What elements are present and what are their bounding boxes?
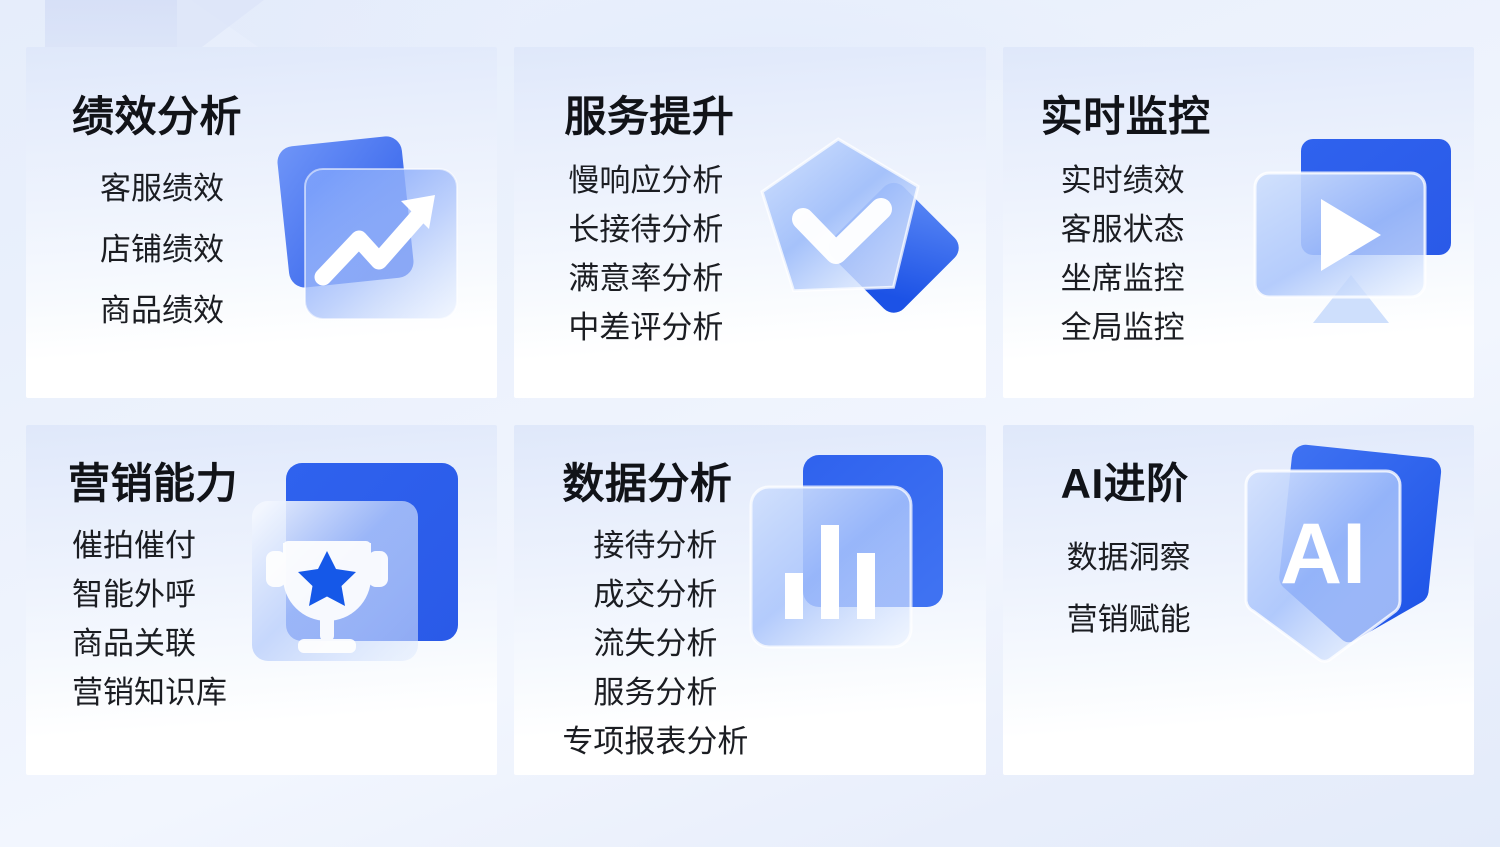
list-item[interactable]: 商品绩效 [100, 280, 242, 341]
list-item[interactable]: 全局监控 [1061, 303, 1211, 352]
feature-card-realtime-monitoring[interactable]: 实时监控 实时绩效 客服状态 坐席监控 全局监控 [1003, 47, 1474, 398]
list-item[interactable]: 服务分析 [562, 668, 748, 717]
card-feature-list: 催拍催付 智能外呼 商品关联 营销知识库 [44, 521, 238, 717]
list-item[interactable]: 店铺绩效 [100, 219, 242, 280]
card-text-block: 营销能力 催拍催付 智能外呼 商品关联 营销知识库 [44, 450, 238, 717]
card-text-block: 实时监控 实时绩效 客服状态 坐席监控 全局监控 [1041, 83, 1211, 352]
feature-card-performance-analysis[interactable]: 绩效分析 客服绩效 店铺绩效 商品绩效 [26, 47, 497, 398]
list-item[interactable]: 中差评分析 [568, 303, 734, 352]
card-feature-list: 实时绩效 客服状态 坐席监控 全局监控 [1041, 156, 1211, 352]
card-title: 营销能力 [44, 450, 238, 511]
monitor-play-icon [1239, 125, 1464, 340]
list-item[interactable]: 坐席监控 [1061, 254, 1211, 303]
trend-up-chart-icon [275, 127, 485, 332]
list-item[interactable]: 营销赋能 [1067, 589, 1191, 651]
card-title: 实时监控 [1041, 83, 1211, 144]
card-title: AI进阶 [1061, 450, 1191, 511]
card-feature-list: 慢响应分析 长接待分析 满意率分析 中差评分析 [564, 156, 734, 352]
list-item[interactable]: 满意率分析 [568, 254, 734, 303]
list-item[interactable]: 慢响应分析 [568, 156, 734, 205]
card-text-block: 数据分析 接待分析 成交分析 流失分析 服务分析 专项报表分析 [562, 450, 748, 766]
card-title: 服务提升 [564, 83, 734, 144]
trophy-star-icon [252, 453, 477, 673]
bar-chart-icon [747, 445, 972, 655]
card-title: 数据分析 [562, 450, 748, 511]
list-item[interactable]: 数据洞察 [1067, 527, 1191, 589]
list-item[interactable]: 流失分析 [562, 619, 748, 668]
card-text-block: 绩效分析 客服绩效 店铺绩效 商品绩效 [72, 83, 242, 341]
list-item[interactable]: 专项报表分析 [562, 717, 748, 766]
feature-card-grid: 绩效分析 客服绩效 店铺绩效 商品绩效 [26, 47, 1474, 775]
list-item[interactable]: 客服状态 [1061, 205, 1211, 254]
list-item[interactable]: 成交分析 [562, 570, 748, 619]
list-item[interactable]: 客服绩效 [100, 158, 242, 219]
feature-card-marketing-capability[interactable]: 营销能力 催拍催付 智能外呼 商品关联 营销知识库 [26, 425, 497, 776]
ai-badge-label: AI [1280, 506, 1366, 602]
list-item[interactable]: 实时绩效 [1061, 156, 1211, 205]
card-text-block: 服务提升 慢响应分析 长接待分析 满意率分析 中差评分析 [564, 83, 734, 352]
card-title: 绩效分析 [72, 83, 242, 144]
shield-check-icon [741, 127, 966, 332]
list-item[interactable]: 催拍催付 [72, 521, 238, 570]
list-item[interactable]: 长接待分析 [568, 205, 734, 254]
feature-card-ai-advanced[interactable]: AI进阶 数据洞察 营销赋能 [1003, 425, 1474, 776]
card-text-block: AI进阶 数据洞察 营销赋能 [1061, 450, 1191, 651]
list-item[interactable]: 智能外呼 [72, 570, 238, 619]
list-item[interactable]: 营销知识库 [72, 668, 238, 717]
card-feature-list: 接待分析 成交分析 流失分析 服务分析 专项报表分析 [562, 521, 748, 766]
card-feature-list: 客服绩效 店铺绩效 商品绩效 [72, 158, 242, 341]
list-item[interactable]: 商品关联 [72, 619, 238, 668]
ai-badge-icon: AI [1240, 435, 1450, 670]
list-item[interactable]: 接待分析 [562, 521, 748, 570]
card-feature-list: 数据洞察 营销赋能 [1061, 527, 1191, 651]
feature-card-service-improvement[interactable]: 服务提升 慢响应分析 长接待分析 满意率分析 中差评分析 [514, 47, 985, 398]
feature-card-data-analysis[interactable]: 数据分析 接待分析 成交分析 流失分析 服务分析 专项报表分析 [514, 425, 985, 776]
